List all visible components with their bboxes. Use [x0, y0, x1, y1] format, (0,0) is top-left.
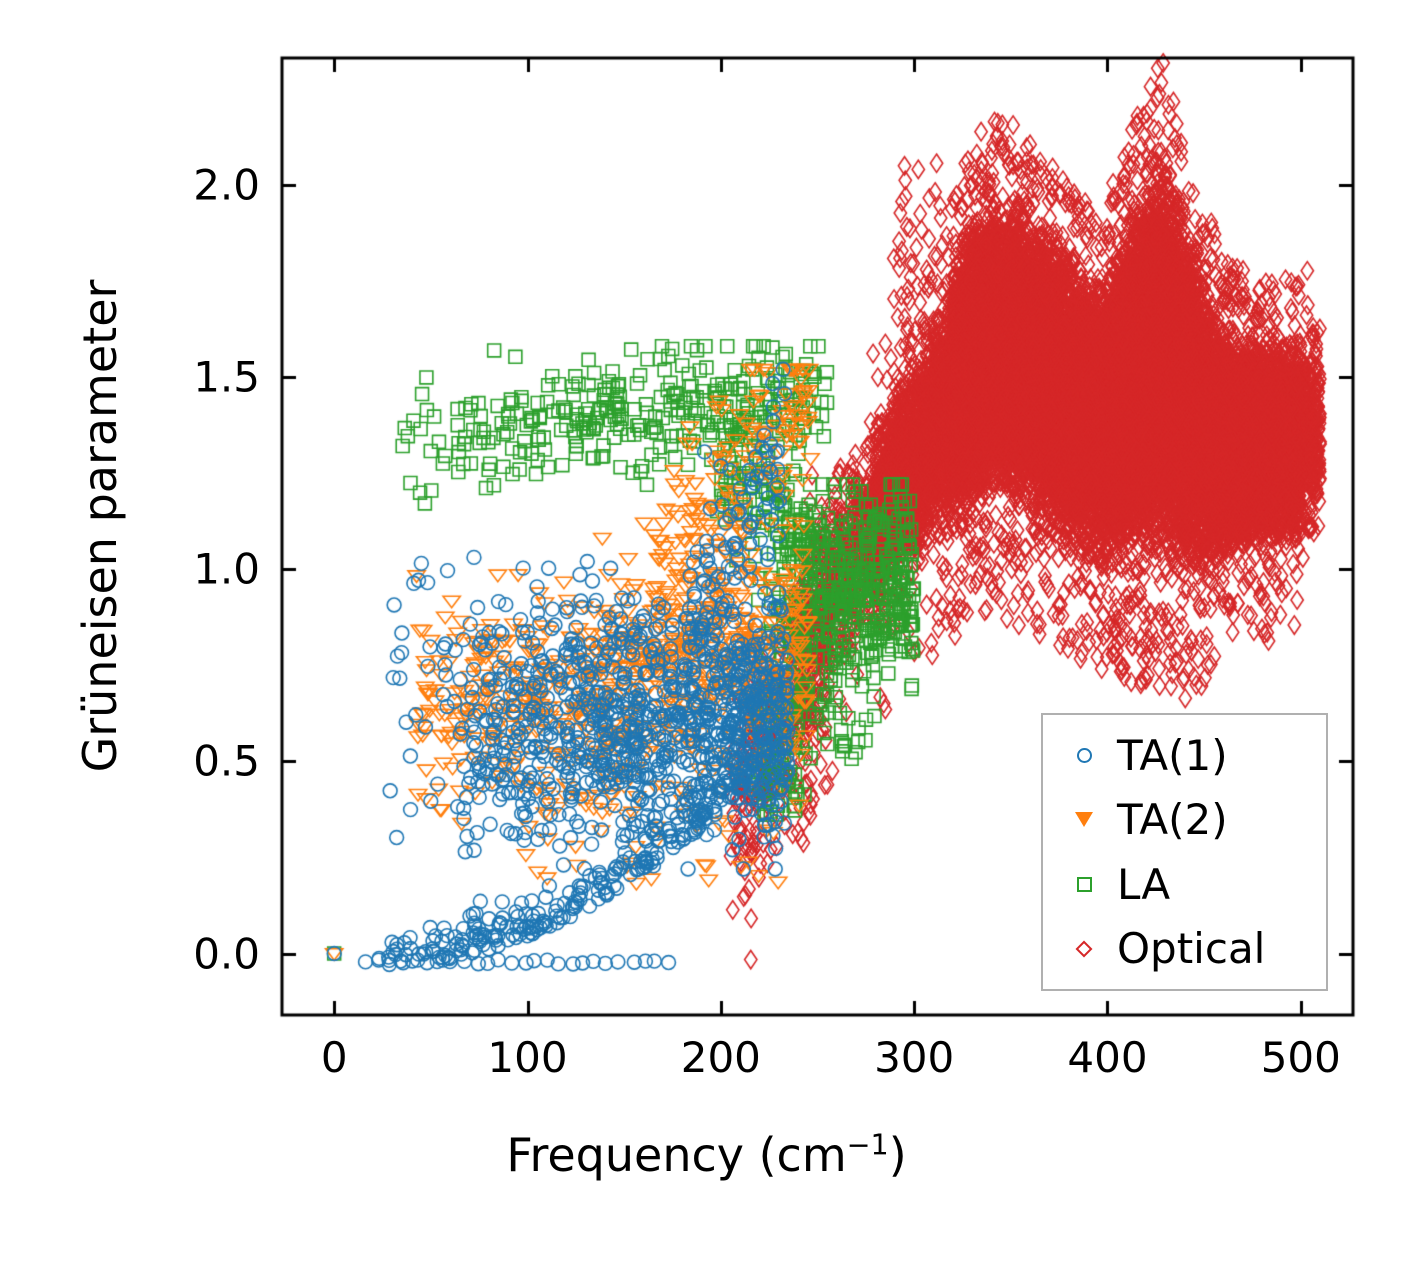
x-axis-label-exponent: −1	[847, 1129, 889, 1162]
x-tick-label: 200	[681, 1033, 761, 1082]
marker-shape	[1077, 877, 1092, 892]
legend-label: TA(1)	[1117, 731, 1228, 780]
y-tick-label: 1.5	[150, 353, 260, 402]
legend-item-optical[interactable]: Optical	[1043, 918, 1326, 980]
legend-item-ta1[interactable]: TA(1)	[1043, 724, 1326, 786]
figure-container: Grüneisen parameter Frequency (cm−1) 010…	[0, 0, 1413, 1264]
x-tick-label: 400	[1067, 1033, 1147, 1082]
marker-shape	[1076, 940, 1093, 957]
diamond-marker-icon	[1061, 926, 1107, 972]
x-tick-label: 300	[874, 1033, 954, 1082]
x-axis-label-tail: )	[889, 1128, 907, 1182]
x-axis-label: Frequency (cm−1)	[0, 1128, 1413, 1182]
marker-shape	[1075, 812, 1093, 827]
marker-shape	[1077, 748, 1092, 763]
legend-item-la[interactable]: LA	[1043, 853, 1326, 915]
y-tick-label: 2.0	[150, 160, 260, 209]
triangle-down-marker-icon	[1061, 797, 1107, 843]
legend-item-ta2[interactable]: TA(2)	[1043, 789, 1326, 851]
x-tick-label: 500	[1261, 1033, 1341, 1082]
y-tick-label: 0.5	[150, 737, 260, 786]
y-tick-label: 0.0	[150, 929, 260, 978]
y-tick-label: 1.0	[150, 545, 260, 594]
legend-label: LA	[1117, 860, 1170, 909]
legend-box[interactable]: TA(1)TA(2)LAOptical	[1041, 713, 1328, 991]
x-tick-label: 0	[321, 1033, 348, 1082]
legend-label: TA(2)	[1117, 795, 1228, 844]
legend-label: Optical	[1117, 924, 1265, 973]
circle-marker-icon	[1061, 732, 1107, 778]
x-tick-label: 100	[487, 1033, 567, 1082]
x-axis-label-base: Frequency (cm	[506, 1128, 846, 1182]
square-marker-icon	[1061, 861, 1107, 907]
